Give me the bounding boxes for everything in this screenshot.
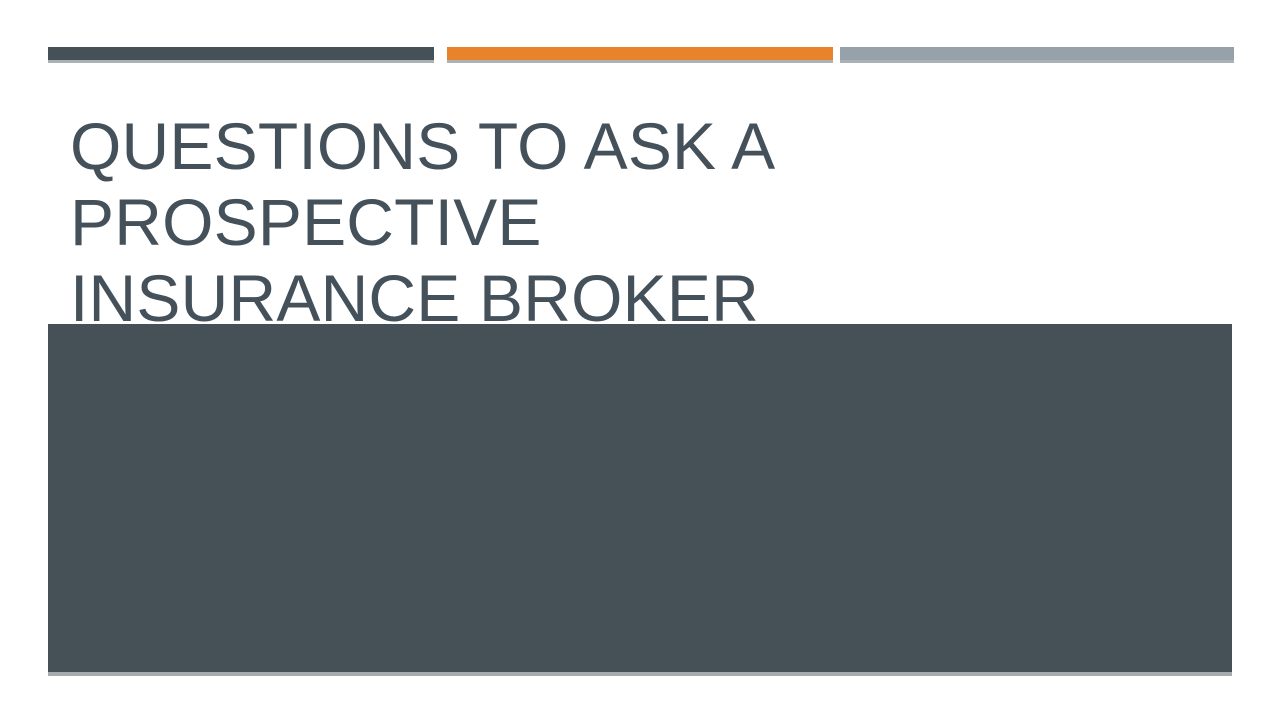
presentation-slide: QUESTIONS TO ASK A PROSPECTIVE INSURANCE…	[0, 0, 1280, 720]
content-placeholder-text[interactable]	[48, 324, 1232, 672]
accent-bar-dark	[48, 47, 434, 60]
slide-title[interactable]: QUESTIONS TO ASK A PROSPECTIVE INSURANCE…	[70, 108, 1220, 336]
accent-bar-row	[0, 0, 1280, 70]
slide-content-placeholder[interactable]	[48, 324, 1232, 672]
accent-bar-gray	[840, 47, 1234, 60]
slide-title-placeholder[interactable]: QUESTIONS TO ASK A PROSPECTIVE INSURANCE…	[70, 108, 1220, 336]
accent-bar-orange	[447, 47, 833, 60]
